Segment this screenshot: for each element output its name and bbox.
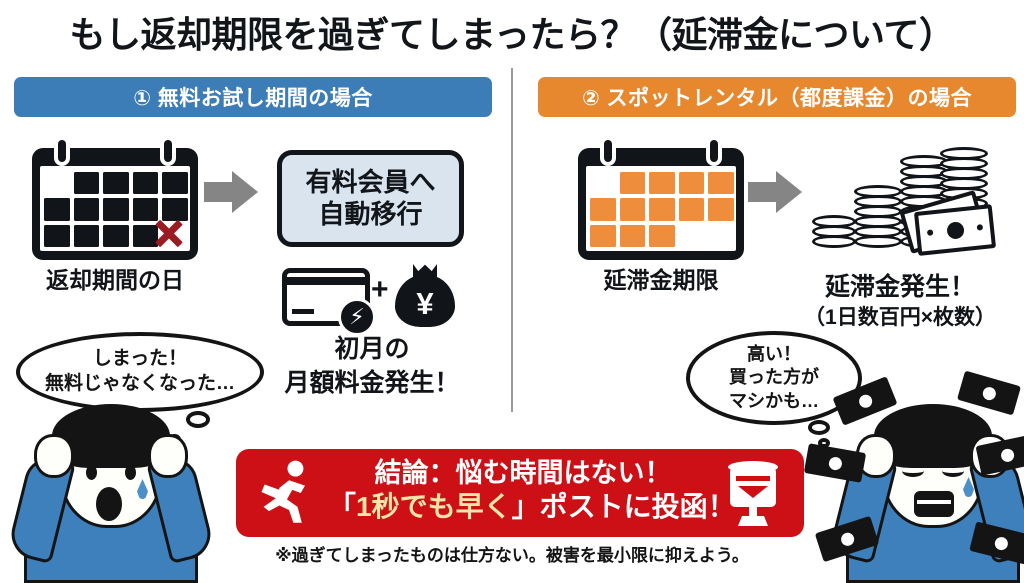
banner-line-1: 結論：悩む時間はない！ — [328, 457, 718, 490]
monthly-fee-caption-line1: 初月の — [272, 334, 472, 365]
auto-upgrade-line2: 自動移行 — [318, 199, 422, 231]
person-left-sweat-drop — [137, 479, 148, 499]
infographic-canvas: もし返却期限を過ぎてしまったら？（延滞金について） ① 無料お試し期間の場合 ②… — [0, 0, 1024, 583]
running-person-icon — [254, 459, 322, 527]
speech-bubble-left-line2: 無料じゃなくなった… — [45, 372, 235, 397]
postbox-icon — [722, 460, 784, 526]
banner-quote-open: 「 — [328, 491, 356, 522]
coins-and-bills-icon — [808, 142, 992, 262]
coin-stack-1 — [812, 218, 856, 248]
speech-bubble-right: 高い！ 買った方が マシかも… — [686, 331, 862, 425]
auto-upgrade-line1: 有料会員へ — [305, 167, 435, 199]
panel-header-spot-rental: ② スポットレンタル（都度課金）の場合 — [538, 77, 1016, 117]
arrow-right-icon-right — [748, 171, 804, 213]
banner-text-block: 結論：悩む時間はない！ 「1秒でも早く」ポストに投函！ — [328, 457, 718, 524]
arrow-right-icon-left — [204, 171, 260, 213]
person-left-mouth — [96, 487, 122, 521]
late-fee-caption-line1: 延滞金発生！ — [790, 272, 1010, 303]
speech-bubble-right-line2: 買った方が — [729, 366, 819, 389]
banner-line-2: 「1秒でも早く」ポストに投函！ — [328, 490, 718, 524]
footnote: ※過ぎてしまったものは仕方ない。被害を最小限に抑えよう。 — [0, 541, 1024, 566]
calendar-ring-right — [706, 136, 722, 166]
red-x-icon — [152, 216, 186, 250]
speech-bubble-left-line1: しまった！ — [93, 347, 187, 372]
monthly-fee-caption-line2: 月額料金発生！ — [262, 368, 482, 399]
calendar-ring-left — [600, 136, 616, 166]
plus-sign: + — [371, 275, 389, 305]
speech-bubble-right-line3: マシかも… — [729, 390, 819, 413]
credit-card-icon: ⚡ — [282, 268, 370, 326]
calendar-icon-spot-rental — [578, 136, 744, 260]
speech-bubble-right-tail-1 — [808, 420, 830, 435]
banner-highlight: 1秒でも早く — [356, 491, 512, 522]
coin-stack-2 — [854, 188, 902, 248]
speech-bubble-left: しまった！ 無料じゃなくなった… — [16, 332, 264, 412]
panel-header-free-trial: ① 無料お試し期間の場合 — [14, 77, 492, 117]
auto-upgrade-box: 有料会員へ 自動移行 — [277, 150, 464, 247]
person-left-hand-right — [148, 434, 188, 478]
money-bag-symbol: ¥ — [395, 275, 455, 327]
person-left-hand-left — [34, 434, 74, 478]
panel-divider — [511, 68, 513, 412]
banknote-front — [914, 204, 996, 256]
speech-bubble-right-line1: 高い！ — [747, 343, 801, 366]
person-right-mouth — [914, 491, 954, 517]
calendar-icon-free-trial — [32, 136, 198, 260]
money-bag-icon: ¥ — [393, 264, 457, 328]
late-fee-caption-line2: （1日数百円×枚数） — [786, 305, 1014, 331]
calendar-ring-right — [160, 136, 176, 166]
calendar-caption-spot-rental: 延滞金期限 — [558, 266, 764, 294]
banner-quote-close: 」ポストに投函！ — [512, 491, 736, 522]
calendar-caption-free-trial: 返却期間の日 — [12, 266, 218, 294]
page-title: もし返却期限を過ぎてしまったら？（延滞金について） — [0, 6, 1024, 58]
conclusion-banner: 結論：悩む時間はない！ 「1秒でも早く」ポストに投函！ — [236, 449, 804, 537]
calendar-grid — [590, 172, 734, 247]
calendar-ring-left — [54, 136, 70, 166]
